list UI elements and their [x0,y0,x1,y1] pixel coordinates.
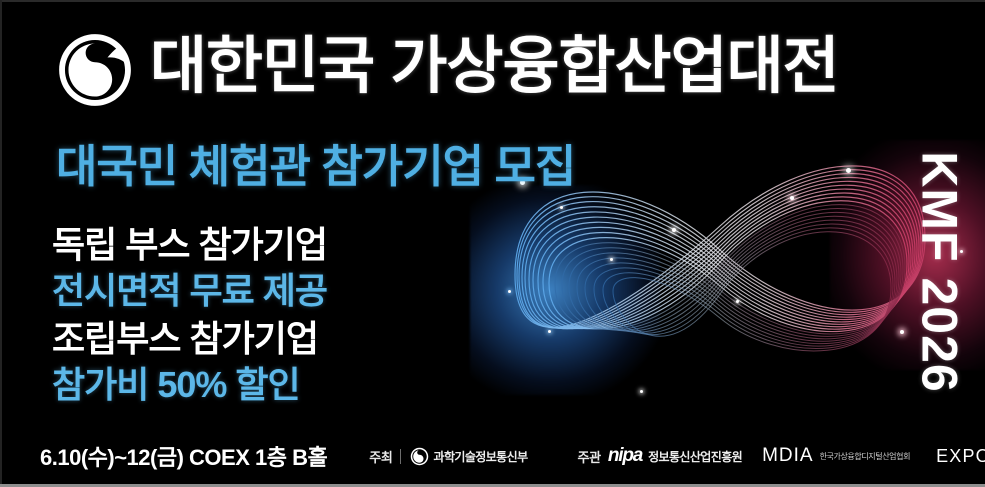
subtitle: 대국민 체험관 참가기업 모집 [56,138,575,196]
page-title: 대한민국 가상융합산업대전 [150,28,839,106]
benefit-heading: 조립부스 참가기업 [52,316,318,362]
benefit-item: 독립 부스 참가기업 전시면적 무료 제공 [52,222,327,314]
host-group: 주최 과학기술정보통신부 [369,447,527,466]
organizer-group: 주관 nipa 정보통신산업진흥원 MDIA 한국가상융합디지털산업협회 EXP… [578,445,985,467]
brand-vertical-label: KMF 2026 [912,151,968,392]
mdia-logo: MDIA [762,445,814,467]
organizer-label: 주관 [578,447,601,466]
benefit-heading: 독립 부스 참가기업 [52,222,327,268]
host-divider [400,449,401,464]
nipa-name: 정보통신산업진흥원 [648,448,742,465]
event-date-venue: 6.10(수)~12(금) COEX 1층 B홀 [40,440,327,472]
kmf-2026-promo-poster: 대한민국 가상융합산업대전 대국민 체험관 참가기업 모집 독립 부스 참가기업… [0,0,985,487]
exporum-logo: EXPORUM [936,446,985,467]
brand-vertical-mark: KMF 2026 [907,136,973,408]
korea-government-emblem-icon [56,31,134,109]
host-label: 주최 [369,447,392,466]
nipa-logo: nipa [608,445,642,467]
benefit-detail: 참가비 50% 할인 [52,362,318,408]
korea-government-emblem-icon-small [410,447,429,466]
poster-left-edge [0,0,2,487]
footer-bar: 6.10(수)~12(금) COEX 1층 B홀 주최 과학기술정보통신부 주관… [0,425,985,487]
mdia-name: 한국가상융합디지털산업협회 [820,451,910,462]
mdia-logo-group: MDIA 한국가상융합디지털산업협회 [762,445,910,467]
poster-top-edge [0,0,985,2]
host-name: 과학기술정보통신부 [434,448,528,465]
benefit-detail: 전시면적 무료 제공 [52,268,327,314]
benefit-item: 조립부스 참가기업 참가비 50% 할인 [52,316,318,408]
